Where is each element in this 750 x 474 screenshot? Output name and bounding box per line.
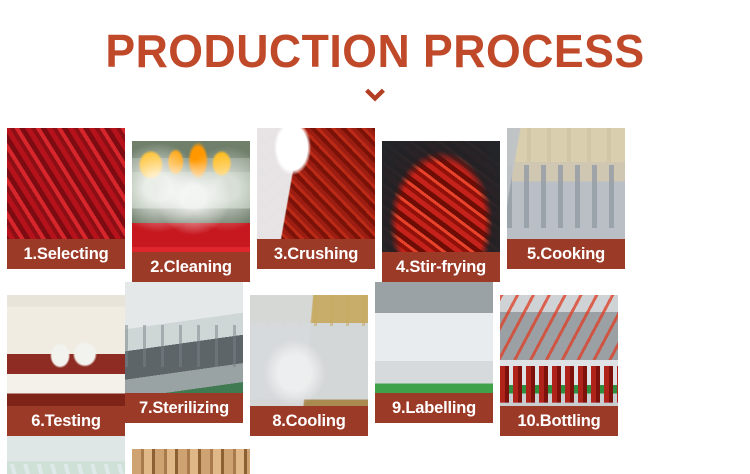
process-step-label-5: 5.Cooking: [507, 239, 625, 269]
process-step-label-7: 7.Sterilizing: [125, 393, 243, 423]
process-step-card-12[interactable]: 12.Inspec: [132, 449, 250, 474]
process-step-photo-12: [132, 449, 250, 474]
process-step-card-8[interactable]: 8.Cooling: [250, 295, 368, 436]
process-step-card-4[interactable]: 4.Stir-frying: [382, 141, 500, 282]
chevron-down-icon: [364, 88, 386, 103]
process-step-label-1: 1.Selecting: [7, 239, 125, 269]
process-step-card-7[interactable]: 7.Sterilizing: [125, 282, 243, 423]
process-step-card-6[interactable]: 6.Testing: [7, 295, 125, 436]
process-step-label-8: 8.Cooling: [250, 406, 368, 436]
process-step-label-2: 2.Cleaning: [132, 252, 250, 282]
process-step-card-9[interactable]: 9.Labelling: [375, 282, 493, 423]
process-step-card-2[interactable]: 2.Cleaning: [132, 141, 250, 282]
page-header: PRODUCTION PROCESS: [0, 0, 750, 108]
process-step-card-1[interactable]: 1.Selecting: [7, 128, 125, 269]
process-step-card-10[interactable]: 10.Bottling: [500, 295, 618, 436]
process-step-label-4: 4.Stir-frying: [382, 252, 500, 282]
process-step-card-11[interactable]: 11.Packing: [7, 436, 125, 474]
page-title: PRODUCTION PROCESS: [11, 26, 739, 76]
chevron-down-icon-wrap: [0, 82, 750, 108]
process-step-photo-11: [7, 436, 125, 474]
process-step-card-5[interactable]: 5.Cooking: [507, 128, 625, 269]
process-step-label-3: 3.Crushing: [257, 239, 375, 269]
process-step-label-9: 9.Labelling: [375, 393, 493, 423]
process-step-label-6: 6.Testing: [7, 406, 125, 436]
production-process-grid: 1.Selecting 2.Cleaning 3.Crushing 4.Stir…: [7, 128, 743, 474]
process-step-label-10: 10.Bottling: [500, 406, 618, 436]
process-step-card-3[interactable]: 3.Crushing: [257, 128, 375, 269]
